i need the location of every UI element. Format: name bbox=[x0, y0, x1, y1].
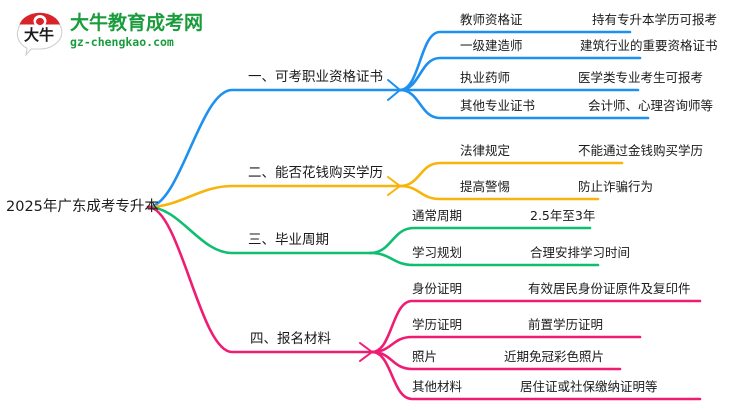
mindmap-canvas: 大牛 大牛教育成考网 gz-chengkao.com bbox=[0, 0, 750, 410]
leaf-detail-1-2[interactable]: 建筑行业的重要资格证书 bbox=[580, 39, 718, 53]
leaf-label-4-3[interactable]: 照片 bbox=[412, 350, 437, 364]
leaf-detail-2-1[interactable]: 不能通过金钱购买学历 bbox=[578, 144, 703, 158]
leaf-detail-4-3[interactable]: 近期免冠彩色照片 bbox=[504, 350, 604, 364]
leaf-detail-4-2[interactable]: 前置学历证明 bbox=[528, 318, 603, 332]
leaf-detail-3-2[interactable]: 合理安排学习时间 bbox=[530, 246, 630, 260]
logo-bubble-icon: 大牛 bbox=[14, 10, 66, 56]
leaf-label-2-1[interactable]: 法律规定 bbox=[460, 144, 510, 158]
leaf-detail-2-2[interactable]: 防止诈骗行为 bbox=[578, 180, 653, 194]
branch-node-1[interactable]: 一、可考职业资格证书 bbox=[248, 70, 383, 85]
leaf-label-3-2[interactable]: 学习规划 bbox=[412, 246, 462, 260]
branch-node-2[interactable]: 二、能否花钱购买学历 bbox=[248, 166, 383, 181]
leaf-detail-1-4[interactable]: 会计师、心理咨询师等 bbox=[588, 99, 713, 113]
branch-node-4[interactable]: 四、报名材料 bbox=[250, 332, 331, 347]
leaf-detail-4-4[interactable]: 居住证或社保缴纳证明等 bbox=[520, 380, 658, 394]
logo-text: 大牛教育成考网 gz-chengkao.com bbox=[70, 12, 203, 50]
root-node[interactable]: 2025年广东成考专升本 bbox=[6, 199, 159, 215]
logo-site-url: gz-chengkao.com bbox=[70, 35, 203, 50]
svg-text:大牛: 大牛 bbox=[24, 26, 54, 44]
leaf-label-1-4[interactable]: 其他专业证书 bbox=[460, 99, 535, 113]
leaf-label-4-1[interactable]: 身份证明 bbox=[412, 282, 462, 296]
leaf-label-2-2[interactable]: 提高警惕 bbox=[460, 180, 510, 194]
leaf-label-1-1[interactable]: 教师资格证 bbox=[460, 13, 523, 27]
leaf-detail-4-1[interactable]: 有效居民身份证原件及复印件 bbox=[528, 282, 691, 296]
leaf-label-1-3[interactable]: 执业药师 bbox=[460, 71, 510, 85]
site-logo[interactable]: 大牛 大牛教育成考网 gz-chengkao.com bbox=[14, 10, 204, 58]
leaf-detail-3-1[interactable]: 2.5年至3年 bbox=[530, 209, 595, 223]
leaf-detail-1-1[interactable]: 持有专升本学历可报考 bbox=[592, 13, 717, 27]
leaf-label-4-2[interactable]: 学历证明 bbox=[412, 318, 462, 332]
branch-node-3[interactable]: 三、毕业周期 bbox=[248, 233, 329, 248]
leaf-detail-1-3[interactable]: 医学类专业考生可报考 bbox=[578, 71, 703, 85]
leaf-label-3-1[interactable]: 通常周期 bbox=[412, 209, 462, 223]
leaf-label-4-4[interactable]: 其他材料 bbox=[412, 380, 462, 394]
logo-site-name: 大牛教育成考网 bbox=[70, 12, 203, 34]
leaf-label-1-2[interactable]: 一级建造师 bbox=[460, 39, 523, 53]
